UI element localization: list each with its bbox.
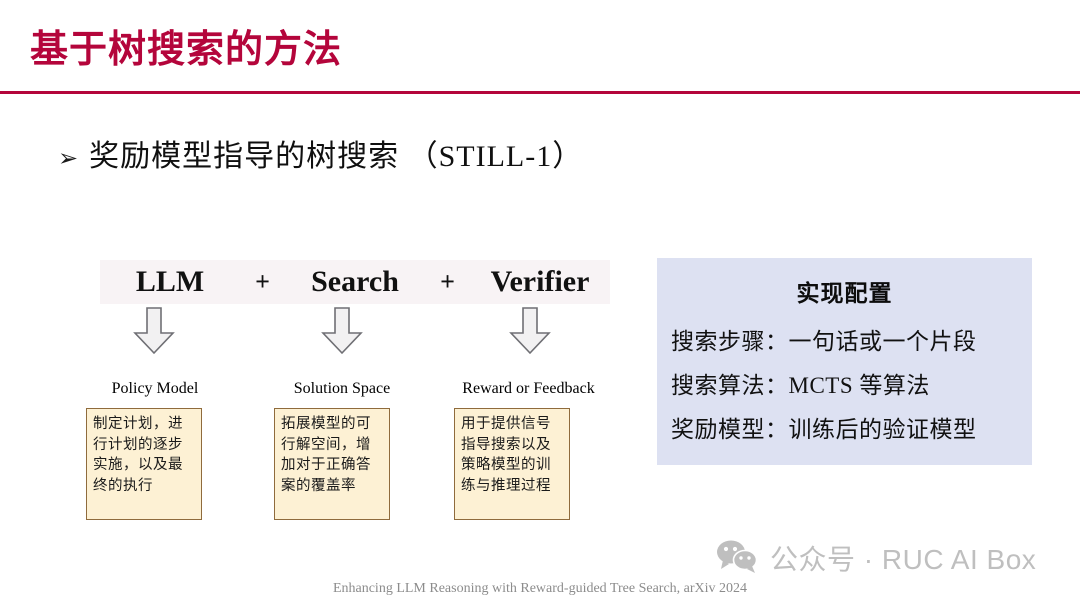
- config-line-search-step: 搜索步骤：一句话或一个片段: [671, 322, 1020, 356]
- formula-row: LLM + Search + Verifier: [100, 260, 610, 304]
- config-line-reward-model: 奖励模型：训练后的验证模型: [671, 410, 1020, 444]
- watermark: 公众号 · RUC AI Box: [716, 538, 1036, 578]
- down-arrow-icon: [508, 306, 552, 356]
- formula-plus-2: +: [425, 267, 470, 297]
- config-line-search-algorithm: 搜索算法：MCTS 等算法: [671, 366, 1020, 400]
- config-panel-title: 实现配置: [669, 274, 1020, 308]
- wechat-icon: [716, 539, 758, 578]
- formula-term-llm: LLM: [100, 265, 240, 299]
- down-arrow-icon: [132, 306, 176, 356]
- column-label-policy-model: Policy Model: [86, 380, 224, 398]
- source-caption: Enhancing LLM Reasoning with Reward-guid…: [0, 581, 1080, 597]
- formula-term-search: Search: [285, 265, 425, 299]
- note-box-solution-space: 拓展模型的可行解空间，增加对于正确答案的覆盖率: [274, 408, 390, 520]
- column-label-reward-feedback: Reward or Feedback: [451, 380, 606, 398]
- formula-plus-1: +: [240, 267, 285, 297]
- config-panel: 实现配置 搜索步骤：一句话或一个片段 搜索算法：MCTS 等算法 奖励模型：训练…: [657, 258, 1032, 465]
- bullet-item: ➢ 奖励模型指导的树搜索 （STILL-1）: [58, 131, 583, 175]
- title-divider: [0, 91, 1080, 94]
- watermark-label: 公众号 · RUC AI Box: [770, 538, 1036, 578]
- formula-term-verifier: Verifier: [470, 265, 610, 299]
- note-box-policy-model: 制定计划，进行计划的逐步实施，以及最终的执行: [86, 408, 202, 520]
- bullet-item-label: 奖励模型指导的树搜索 （STILL-1）: [89, 131, 583, 175]
- bullet-arrow-icon: ➢: [58, 147, 78, 171]
- page-title: 基于树搜索的方法: [30, 18, 342, 73]
- framework-diagram: LLM + Search + Verifier Policy Model Sol…: [86, 250, 626, 540]
- note-box-reward-feedback: 用于提供信号指导搜索以及策略模型的训练与推理过程: [454, 408, 570, 520]
- column-label-solution-space: Solution Space: [273, 380, 411, 398]
- down-arrow-icon: [320, 306, 364, 356]
